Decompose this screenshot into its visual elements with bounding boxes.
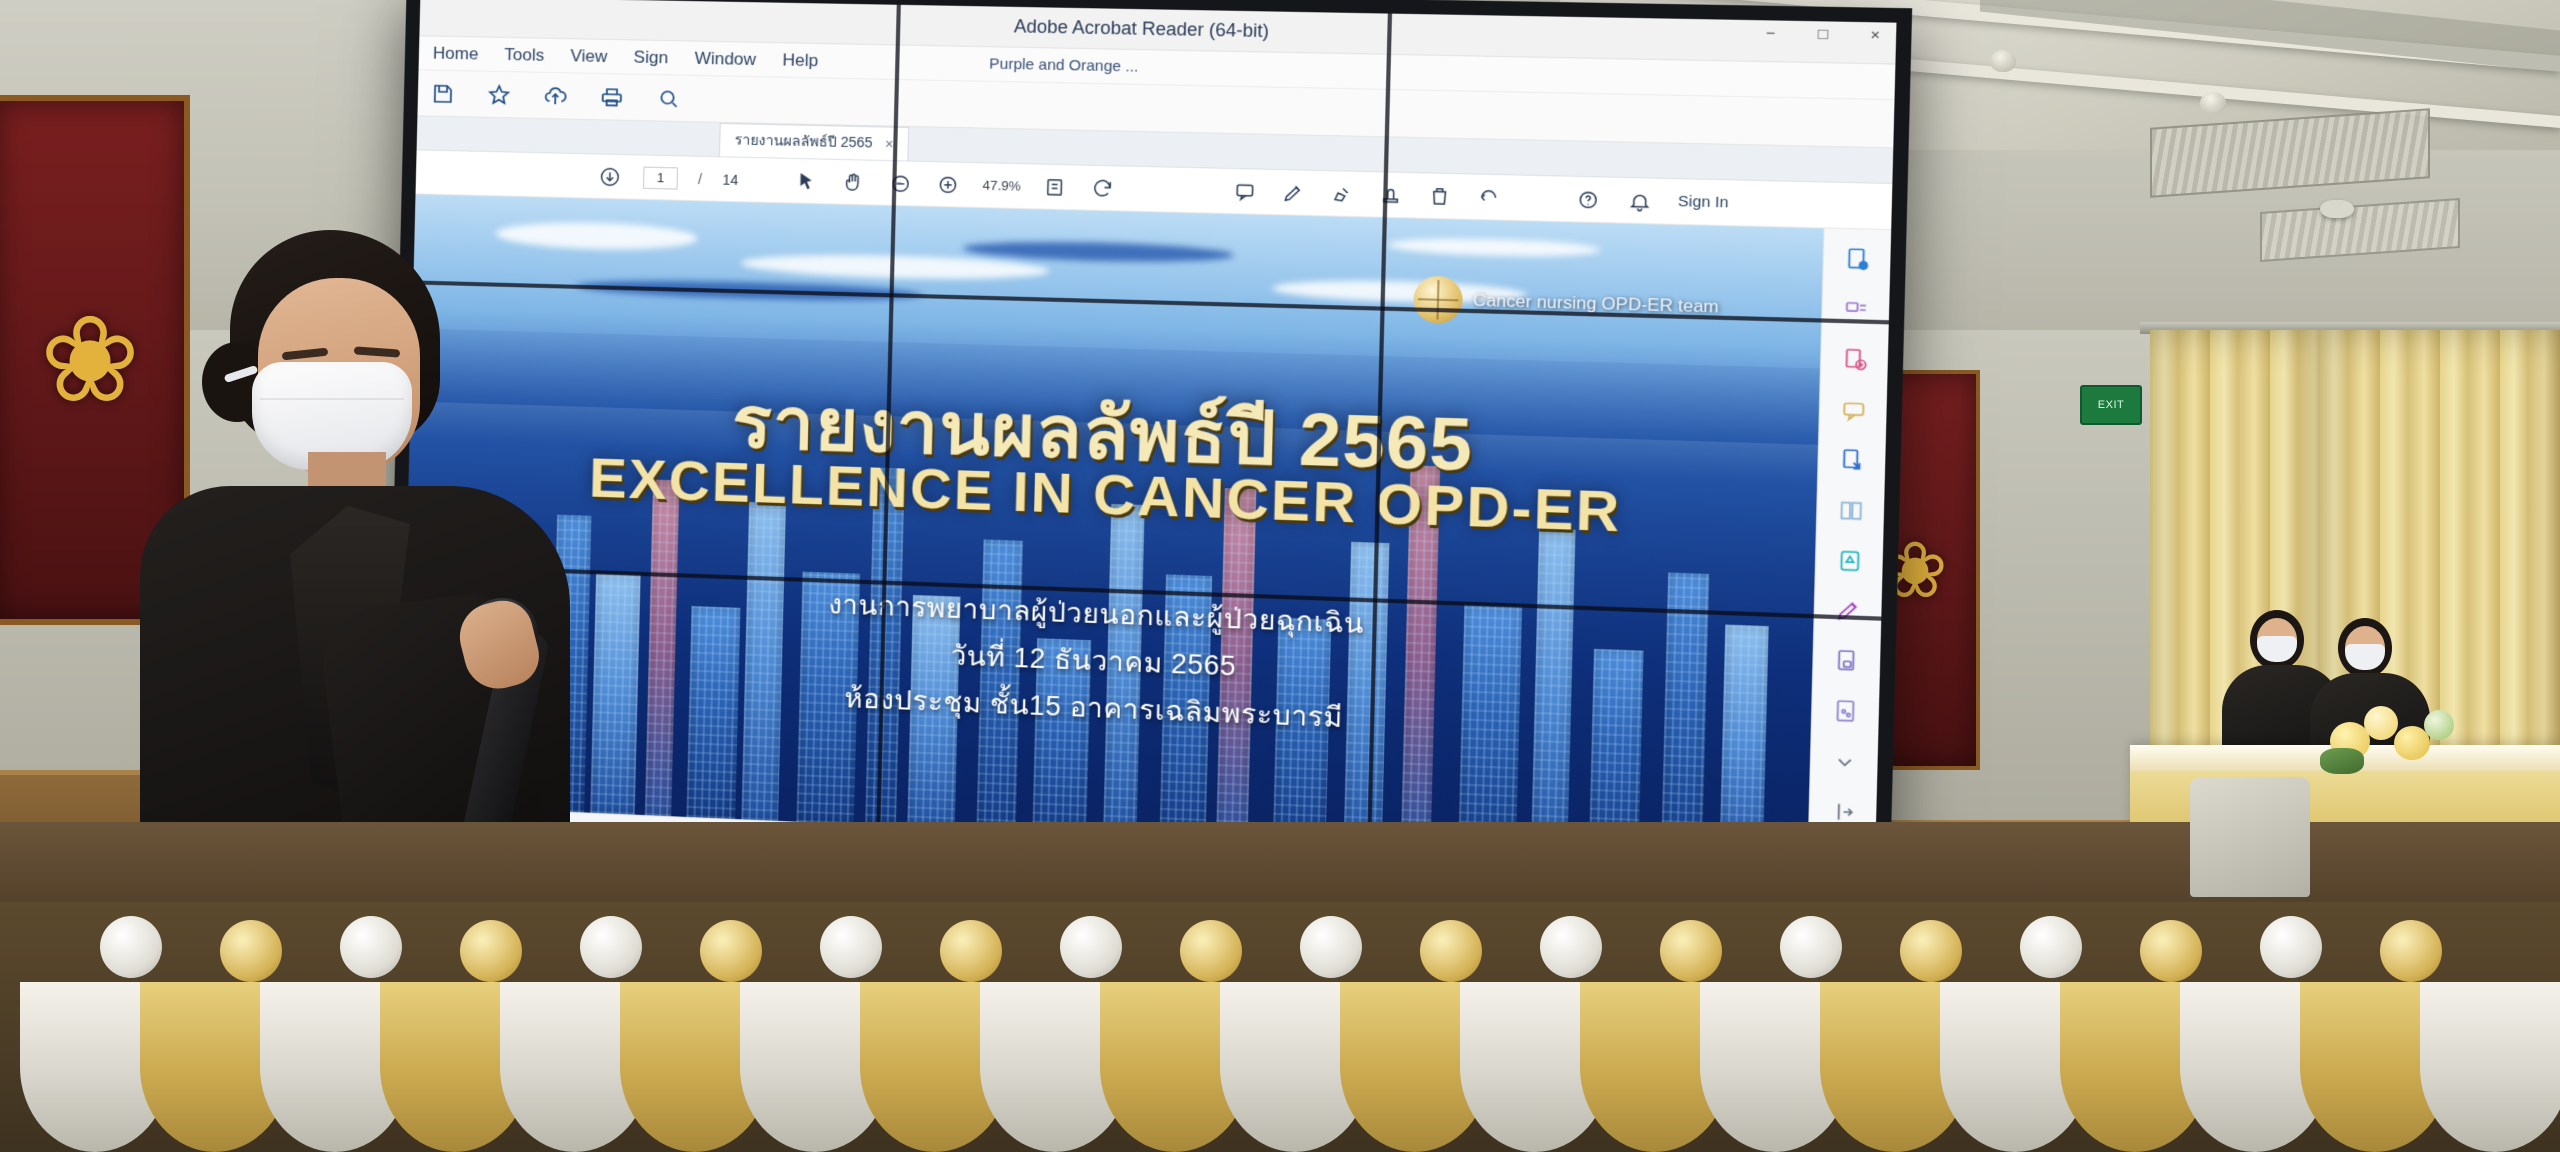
print-icon[interactable]: [598, 84, 625, 111]
menu-tools[interactable]: Tools: [504, 44, 544, 65]
logo-label: Cancer nursing OPD-ER team: [1473, 290, 1719, 317]
ceiling-light: [2200, 92, 2226, 114]
presentation-slide: Cancer nursing OPD-ER team รายงานผลลัพธ์…: [401, 194, 1824, 866]
more-tools-icon[interactable]: [1828, 745, 1862, 778]
redact-icon[interactable]: [1833, 545, 1867, 578]
edit-pdf-icon[interactable]: [1838, 344, 1872, 376]
app-title: Adobe Acrobat Reader (64-bit): [1014, 16, 1270, 42]
video-wall-display: Adobe Acrobat Reader (64-bit) − □ × Home…: [385, 0, 1912, 930]
pdf-viewport[interactable]: Cancer nursing OPD-ER team รายงานผลลัพธ์…: [401, 194, 1824, 866]
zoom-in-icon[interactable]: [935, 171, 962, 198]
document-tab[interactable]: รายงานผลลัพธ์ปี 2565 ×: [719, 123, 909, 161]
flower-arrangement: [2320, 700, 2490, 780]
save-icon[interactable]: [430, 80, 457, 107]
slide-logo: Cancer nursing OPD-ER team: [1413, 275, 1720, 331]
cloud-upload-icon[interactable]: [542, 82, 569, 109]
ceiling-light: [1990, 50, 2016, 72]
smoke-detector: [2320, 200, 2354, 218]
page-separator: /: [698, 170, 702, 186]
globe-icon: [1413, 275, 1463, 324]
menu-view[interactable]: View: [570, 46, 607, 67]
help-icon[interactable]: [1574, 186, 1603, 214]
total-pages: 14: [722, 171, 738, 188]
window-controls[interactable]: − □ ×: [1759, 24, 1888, 44]
comment-icon[interactable]: [1231, 178, 1259, 205]
page-number-input[interactable]: 1: [643, 166, 678, 189]
hand-icon[interactable]: [840, 169, 867, 196]
acrobat-right-controls[interactable]: Sign In: [1574, 186, 1892, 221]
recent-document-label[interactable]: Purple and Orange ...: [989, 55, 1139, 75]
stamp-icon[interactable]: [1377, 181, 1405, 208]
stage-drapery: [0, 902, 2560, 1152]
minimize-icon[interactable]: −: [1759, 24, 1783, 42]
menu-sign[interactable]: Sign: [633, 47, 668, 68]
protect-icon[interactable]: [1830, 645, 1864, 678]
sign-in-button[interactable]: Sign In: [1678, 193, 1729, 212]
combine-files-icon[interactable]: [1835, 444, 1869, 476]
comment-pdf-icon[interactable]: [1836, 394, 1870, 426]
screen-content: Adobe Acrobat Reader (64-bit) − □ × Home…: [400, 0, 1897, 915]
notification-icon[interactable]: [1626, 187, 1655, 215]
maximize-icon[interactable]: □: [1811, 25, 1835, 43]
organize-pages-icon[interactable]: [1834, 495, 1868, 527]
undo-icon[interactable]: [1475, 183, 1503, 211]
pencil-icon[interactable]: [1280, 179, 1308, 206]
compress-icon[interactable]: [1829, 695, 1863, 728]
create-pdf-icon[interactable]: [1839, 294, 1873, 326]
search-icon[interactable]: [655, 85, 682, 112]
conference-room-scene: ❀ ❀ EXIT Adobe Acrobat Reader (64-bit) −…: [0, 0, 2560, 1152]
stage-floor: [0, 822, 2560, 902]
exit-sign: EXIT: [2080, 385, 2142, 425]
tab-close-icon[interactable]: ×: [885, 136, 894, 152]
delete-icon[interactable]: [1426, 182, 1454, 210]
zoom-level[interactable]: 47.9%: [982, 178, 1021, 194]
thai-ornament-icon: ❀: [40, 300, 141, 420]
download-icon[interactable]: [596, 163, 623, 190]
chair: [2190, 777, 2310, 897]
tab-label: รายงานผลลัพธ์ปี 2565: [734, 129, 873, 154]
fit-page-icon[interactable]: [1041, 173, 1069, 200]
menu-home[interactable]: Home: [433, 43, 479, 64]
menu-window[interactable]: Window: [694, 48, 756, 69]
fill-sign-icon[interactable]: [1831, 595, 1865, 628]
cursor-icon[interactable]: [793, 168, 820, 195]
rotate-icon[interactable]: [1089, 174, 1117, 201]
close-icon[interactable]: ×: [1863, 26, 1888, 44]
menu-help[interactable]: Help: [782, 50, 818, 71]
star-icon[interactable]: [486, 81, 513, 108]
export-pdf-icon[interactable]: [1840, 244, 1874, 276]
highlighter-icon[interactable]: [1328, 180, 1356, 207]
zoom-out-icon[interactable]: [887, 170, 914, 197]
